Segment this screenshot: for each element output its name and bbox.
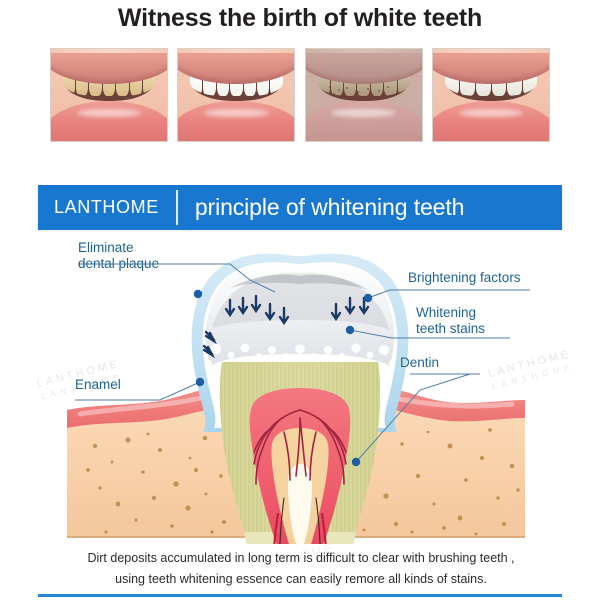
banner-subtitle: principle of whitening teeth — [178, 194, 465, 221]
label-whitening-line1: Whitening — [416, 305, 485, 321]
label-eliminate-dental-plaque: Eliminate dental plaque — [78, 240, 159, 272]
bottom-accent-rule — [38, 594, 562, 597]
label-dentin: Dentin — [400, 355, 439, 371]
before-after-photo-strip — [50, 48, 550, 142]
node-brightening — [364, 294, 372, 302]
node-dentin — [352, 458, 360, 466]
photo-before-stained-teeth — [305, 48, 423, 142]
photo-after-clean-teeth — [432, 48, 550, 142]
photo-after-white-teeth — [177, 48, 295, 142]
photo-before-yellow-teeth — [50, 48, 168, 142]
label-enamel: Enamel — [75, 377, 121, 393]
node-whitening — [346, 326, 354, 334]
label-whitening-line2: teeth stains — [416, 321, 485, 337]
caption-line-1: Dirt deposits accumulated in long term i… — [87, 551, 514, 565]
label-eliminate-line2: dental plaque — [78, 256, 159, 272]
caption-line-2: using teeth whitening essence can easily… — [58, 569, 544, 590]
brand-name: LANTHOME — [38, 197, 176, 218]
photo-stain-specks — [306, 49, 422, 141]
section-banner: LANTHOME principle of whitening teeth — [38, 185, 562, 230]
node-enamel — [196, 378, 204, 386]
label-whitening-teeth-stains: Whitening teeth stains — [416, 305, 485, 337]
label-brightening-factors: Brightening factors — [408, 270, 521, 286]
page-title: Witness the birth of white teeth — [0, 4, 600, 33]
label-eliminate-line1: Eliminate — [78, 240, 159, 256]
node-eliminate — [194, 290, 202, 298]
footer-caption: Dirt deposits accumulated in long term i… — [58, 548, 544, 590]
